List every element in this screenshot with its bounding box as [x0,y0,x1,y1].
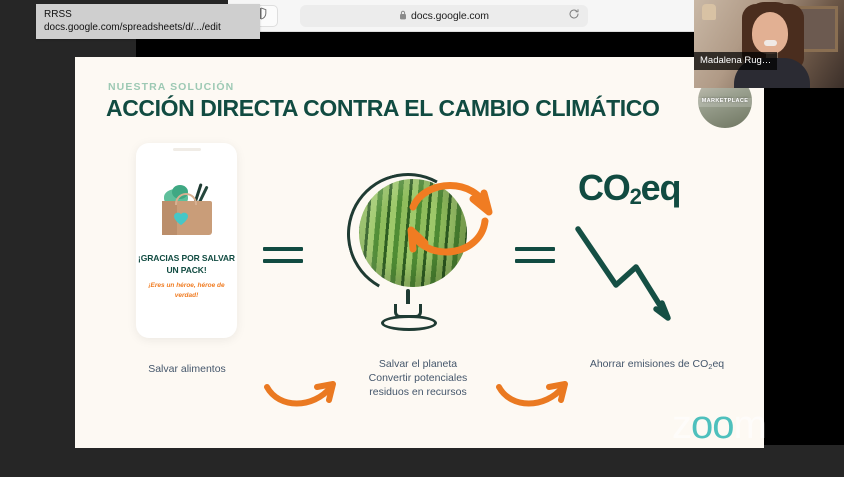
equals-sign-2 [515,247,555,263]
zoom-watermark: zoom [672,405,766,445]
co2-illustration: CO2eq [570,167,740,347]
zoom-watermark-suffix: m [734,403,766,447]
phone-thanks-text: ¡GRACIAS POR SALVAR UN PACK! [136,253,237,276]
downward-trend-arrow-icon [570,223,690,338]
equals-sign-1 [263,247,303,263]
zoom-watermark-prefix: z [672,403,691,447]
zoom-watermark-highlight: oo [691,403,734,447]
recycle-arrows-icon [383,163,513,293]
heart-icon [173,211,189,226]
slide-headline: ACCIÓN DIRECTA CONTRA EL CAMBIO CLIMÁTIC… [106,95,659,122]
caption-salvar-alimentos: Salvar alimentos [127,362,247,376]
watermelon-globe-icon [337,167,487,342]
caption-3-prefix: Ahorrar emisiones de CO [590,358,708,370]
phone-notch [173,148,201,151]
screen-root: docs.google.com RRSS docs.google.com/spr [0,0,844,477]
lock-icon [399,7,407,25]
slide-kicker: NUESTRA SOLUCIÓN [108,81,234,93]
caption-salvar-planeta: Salvar el planeta Convertir potenciales … [343,357,493,399]
participant-face [752,12,788,54]
globe-base [381,315,437,331]
grocery-bag-icon [156,183,218,235]
co2-suffix: eq [641,167,681,208]
tooltip-title: RRSS [44,8,252,21]
caption-line-3: residuos en recursos [343,385,493,399]
address-bar[interactable]: docs.google.com [300,5,588,27]
phone-mockup: ¡GRACIAS POR SALVAR UN PACK! ¡Eres un hé… [136,143,237,338]
co2-label: CO2eq [578,167,680,210]
caption-line-2: Convertir potenciales [343,371,493,385]
avatar-banner-strip [698,98,752,107]
address-url-text: docs.google.com [411,10,489,22]
phone-subtitle-text: ¡Eres un héroe, héroe de verdad! [136,281,237,300]
link-tooltip: RRSS docs.google.com/spreadsheets/d/.../… [36,4,260,39]
reload-icon[interactable] [568,7,580,25]
tooltip-url: docs.google.com/spreadsheets/d/.../edit [44,21,252,34]
curved-arrow-right-icon-2 [495,375,577,420]
caption-ahorrar-emisiones: Ahorrar emisiones de CO2eq [557,357,757,374]
video-participant-tile[interactable]: Madalena Rug… [694,0,844,88]
address-bar-content: docs.google.com [300,7,588,25]
co2-prefix: CO [578,167,630,208]
wall-lamp [702,4,716,20]
participant-name-label: Madalena Rug… [694,52,777,70]
co2-subscript: 2 [630,184,641,209]
participant-mouth [764,40,777,46]
caption-line-1: Salvar el planeta [343,357,493,371]
caption-3-suffix: eq [712,358,724,370]
bag-handle [175,193,197,205]
curved-arrow-right-icon-1 [263,375,345,420]
presentation-slide[interactable]: NUESTRA SOLUCIÓN ACCIÓN DIRECTA CONTRA E… [75,57,764,448]
